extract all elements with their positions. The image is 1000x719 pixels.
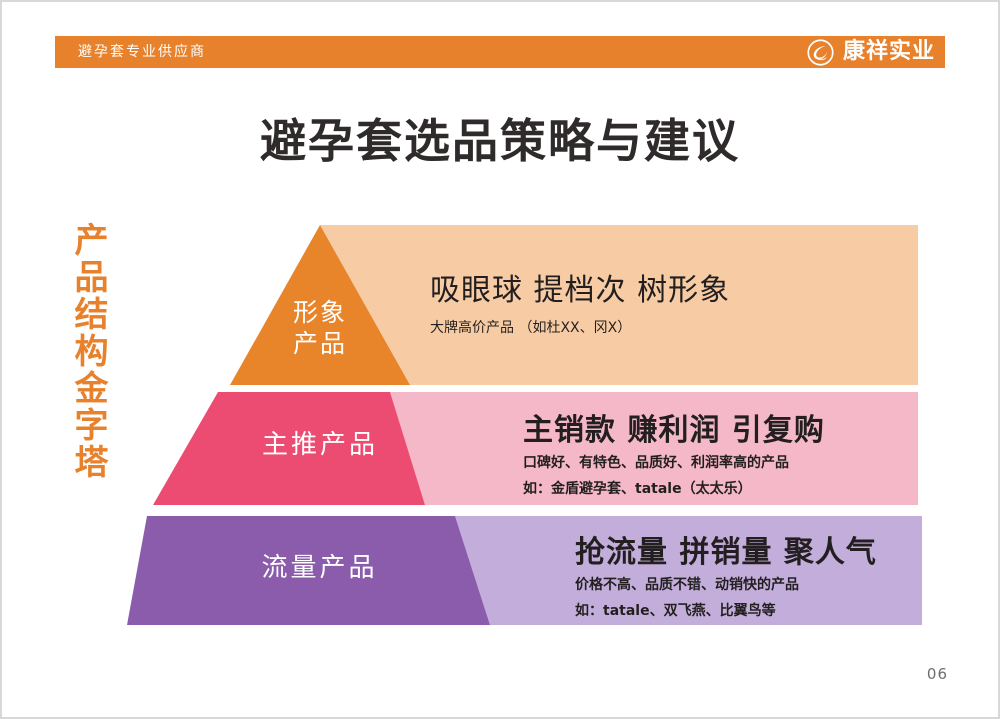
tier-2-text-block: 主销款 赚利润 引复购 口碑好、有特色、品质好、利润率高的产品 如：金盾避孕套、… xyxy=(523,412,825,502)
slide-border-left xyxy=(0,0,2,719)
tier-1-left-label: 形象 产品 xyxy=(272,297,368,359)
tier-1-detail-1: 大牌高价产品 （如杜XX、冈X） xyxy=(430,316,730,341)
slide-canvas: 避孕套专业供应商 康祥实业 避孕套选品策略与建议 产品结构金字塔 形象 产品 主… xyxy=(0,0,1000,719)
pyramid-side-label: 产品结构金字塔 xyxy=(62,222,108,481)
tier-3-text-block: 抢流量 拼销量 聚人气 价格不高、品质不错、动销快的产品 如：tatale、双飞… xyxy=(575,534,877,624)
page-title: 避孕套选品策略与建议 xyxy=(0,110,1000,172)
tier-3-left-label: 流量产品 xyxy=(232,551,407,585)
tier-3-detail-2: 如：tatale、双飞燕、比翼鸟等 xyxy=(575,599,877,624)
leaf-swirl-icon xyxy=(807,39,834,66)
tier-1-left-label-line2: 产品 xyxy=(272,328,368,359)
brand-logo-block: 康祥实业 xyxy=(807,36,935,68)
page-number: 06 xyxy=(927,665,948,683)
tier-2-detail-2: 如：金盾避孕套、tatale（太太乐） xyxy=(523,477,825,502)
tier-1-headline: 吸眼球 提档次 树形象 xyxy=(430,272,730,310)
brand-name: 康祥实业 xyxy=(843,39,935,65)
tier-2-headline: 主销款 赚利润 引复购 xyxy=(523,412,825,450)
tier-2-left-label: 主推产品 xyxy=(235,428,405,462)
tier-2-detail-1: 口碑好、有特色、品质好、利润率高的产品 xyxy=(523,451,825,476)
tier-1-left-label-line1: 形象 xyxy=(272,297,368,328)
tier-3-headline: 抢流量 拼销量 聚人气 xyxy=(575,534,877,572)
slide-border-top xyxy=(0,0,1000,2)
tier-1-text-block: 吸眼球 提档次 树形象 大牌高价产品 （如杜XX、冈X） xyxy=(430,272,730,341)
header-tagline: 避孕套专业供应商 xyxy=(78,42,206,62)
tier-3-detail-1: 价格不高、品质不错、动销快的产品 xyxy=(575,573,877,598)
